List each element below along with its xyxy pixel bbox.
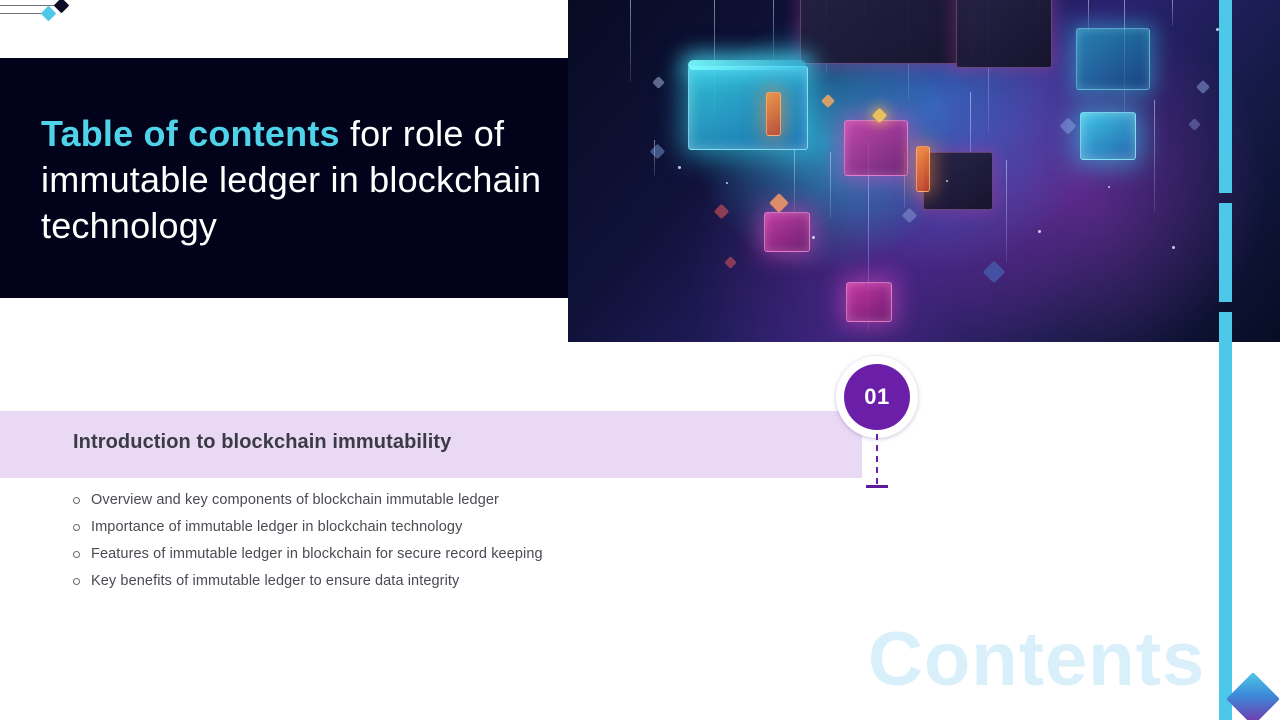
hero-image bbox=[568, 0, 1280, 342]
bullet-circle-icon bbox=[73, 578, 80, 585]
badge-connector-tick bbox=[866, 485, 888, 488]
bullet-circle-icon bbox=[73, 497, 80, 504]
list-item: Features of immutable ledger in blockcha… bbox=[73, 543, 773, 570]
accent-bar-segment-3 bbox=[1219, 312, 1232, 720]
badge-number: 01 bbox=[864, 384, 889, 410]
list-item-label: Overview and key components of blockchai… bbox=[91, 489, 499, 511]
bullet-circle-icon bbox=[73, 524, 80, 531]
watermark-text: Contents bbox=[868, 620, 1205, 700]
accent-bar-segment-2 bbox=[1219, 203, 1232, 302]
diamond-cyan-icon bbox=[41, 6, 57, 22]
list-item-label: Importance of immutable ledger in blockc… bbox=[91, 516, 462, 538]
accent-bar-segment-1 bbox=[1219, 0, 1232, 193]
list-item: Overview and key components of blockchai… bbox=[73, 489, 773, 516]
slide-root: Table of contents for role of immutable … bbox=[0, 0, 1280, 720]
title-band: Table of contents for role of immutable … bbox=[0, 58, 568, 298]
badge-connector-line bbox=[876, 434, 878, 484]
corner-diamond-icon bbox=[1226, 672, 1280, 720]
list-item: Key benefits of immutable ledger to ensu… bbox=[73, 570, 773, 597]
deco-line-1 bbox=[0, 5, 61, 6]
diamond-dark-icon bbox=[54, 0, 70, 13]
list-item-label: Features of immutable ledger in blockcha… bbox=[91, 543, 543, 565]
section-item-list: Overview and key components of blockchai… bbox=[73, 489, 773, 597]
badge-circle: 01 bbox=[844, 364, 910, 430]
page-title: Table of contents for role of immutable … bbox=[41, 111, 546, 249]
page-title-highlight: Table of contents bbox=[41, 113, 340, 154]
bullet-circle-icon bbox=[73, 551, 80, 558]
section-number-badge: 01 bbox=[836, 356, 918, 438]
section-heading: Introduction to blockchain immutability bbox=[73, 431, 451, 454]
corner-decoration-top-left bbox=[0, 0, 90, 24]
list-item-label: Key benefits of immutable ledger to ensu… bbox=[91, 570, 459, 592]
list-item: Importance of immutable ledger in blockc… bbox=[73, 516, 773, 543]
section-band: Introduction to blockchain immutability bbox=[0, 411, 862, 478]
